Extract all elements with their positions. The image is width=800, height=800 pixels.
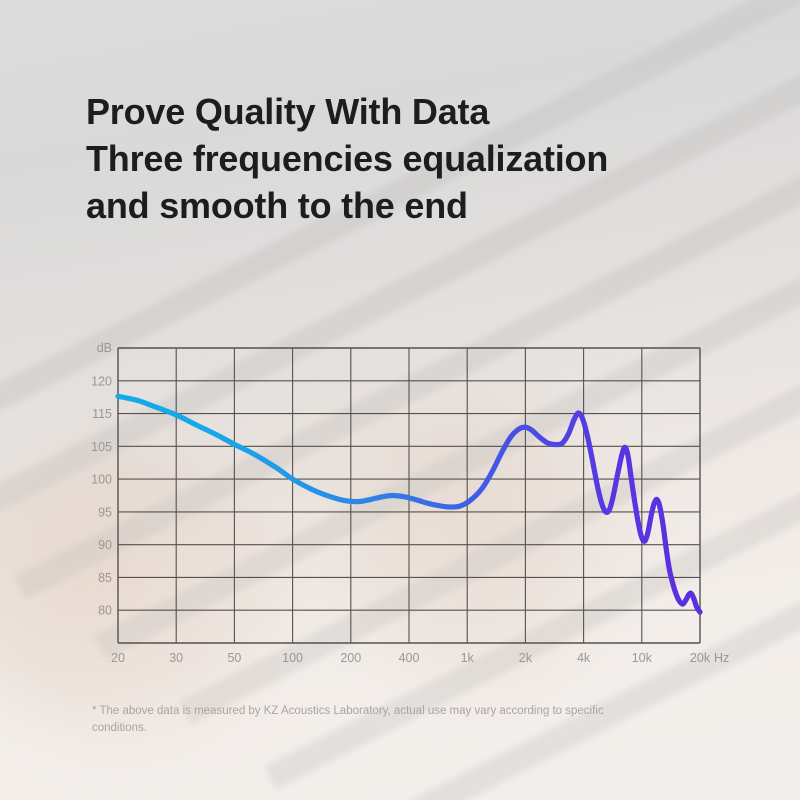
- y-axis-tick-label: 115: [92, 407, 112, 421]
- y-axis-tick-label: 80: [98, 604, 112, 618]
- x-axis-tick-label: 100: [282, 651, 303, 665]
- background-hand-right: [330, 400, 630, 700]
- headline-line-1: Prove Quality With Data: [86, 88, 746, 135]
- x-axis-tick-label: 30: [169, 651, 183, 665]
- background-piano-key: [0, 0, 800, 480]
- y-axis-tick-label: 95: [98, 505, 112, 519]
- x-axis-tick-label: 2k: [519, 651, 533, 665]
- headline-line-3: and smooth to the end: [86, 182, 746, 229]
- x-axis-tick-label: 20: [111, 651, 125, 665]
- x-axis-tick-label: 50: [227, 651, 241, 665]
- footnote-disclaimer: * The above data is measured by KZ Acous…: [92, 703, 652, 737]
- x-axis-tick-label: 1k: [461, 651, 475, 665]
- frequency-response-curve: [118, 396, 700, 612]
- y-axis-tick-label: 100: [91, 473, 112, 487]
- y-axis-tick-label: 90: [98, 538, 112, 552]
- x-axis-tick-label: 10k: [632, 651, 653, 665]
- background-hand-left: [0, 430, 290, 750]
- page-title: Prove Quality With Data Three frequencie…: [86, 88, 746, 229]
- y-axis-tick-labels: 12011510510095908580: [91, 374, 112, 617]
- x-axis-tick-label: 20k: [690, 651, 711, 665]
- chart-gridlines: [118, 348, 700, 643]
- y-axis-tick-label: 85: [98, 571, 112, 585]
- y-axis-tick-label: 120: [91, 374, 112, 388]
- y-axis-tick-label: 105: [91, 440, 112, 454]
- background-glow: [120, 330, 640, 630]
- background-piano-key: [179, 202, 800, 725]
- y-axis-unit-label: dB: [97, 341, 112, 355]
- x-axis-tick-label: 200: [340, 651, 361, 665]
- x-axis-tick-label: 4k: [577, 651, 591, 665]
- x-axis-tick-label: 400: [399, 651, 420, 665]
- headline-line-2: Three frequencies equalization: [86, 135, 746, 182]
- x-axis-unit-label: Hz: [714, 651, 729, 665]
- x-axis-tick-labels: 2030501002004001k2k4k10k20k: [111, 651, 711, 665]
